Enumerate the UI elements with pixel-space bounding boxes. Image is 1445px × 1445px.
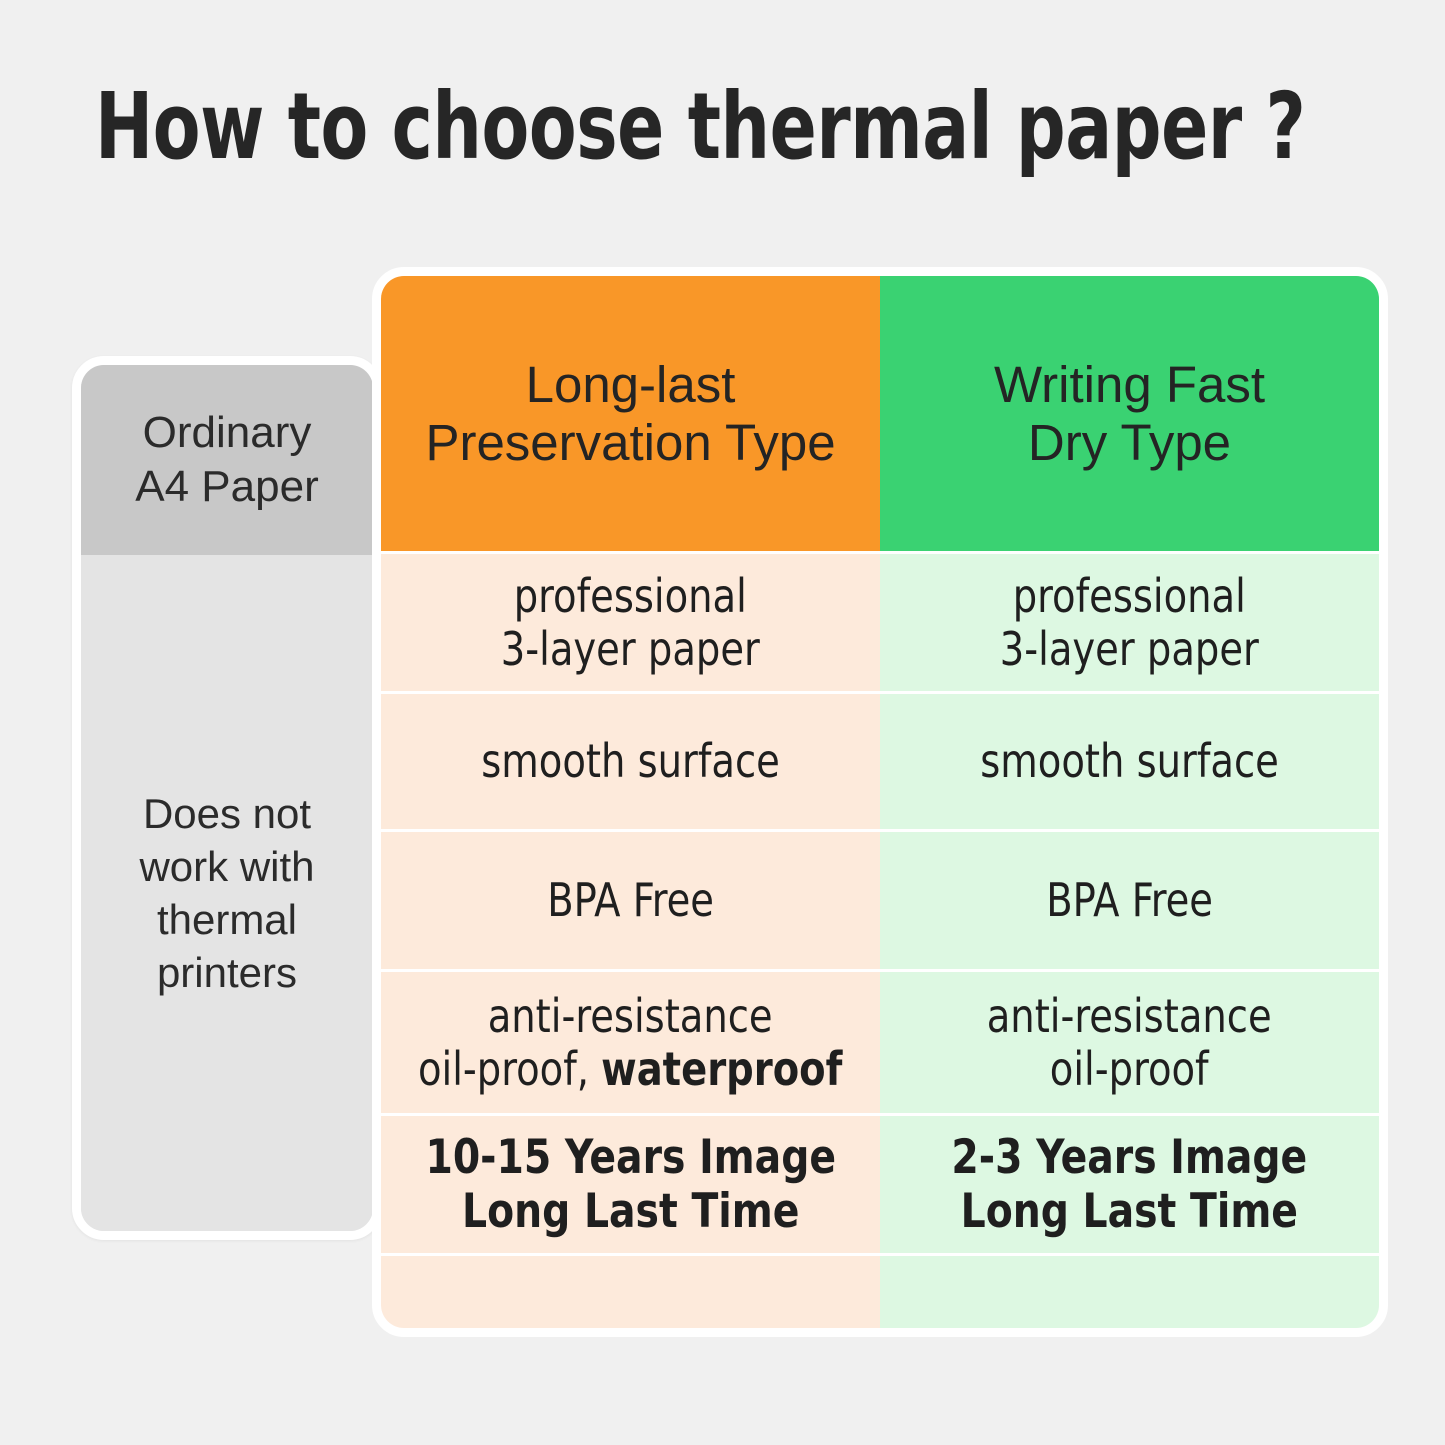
- table-row: anti-resistance oil-proof: [880, 969, 1379, 1113]
- table-row-spacer: [880, 1253, 1379, 1328]
- page-title: How to choose thermal paper ?: [95, 72, 1162, 182]
- cell-long-last-surface: smooth surface: [481, 735, 780, 788]
- column-header-label-ordinary: Ordinary A4 Paper: [135, 406, 318, 514]
- cell-long-last-resistance: anti-resistance oil-proof, waterproof: [418, 990, 842, 1096]
- cell-dry-resistance: anti-resistance oil-proof: [987, 990, 1272, 1096]
- table-row: 10-15 Years Image Long Last Time: [381, 1113, 880, 1253]
- table-row: BPA Free: [381, 829, 880, 969]
- column-card-ordinary-a4-paper: Ordinary A4 Paper Does not work with the…: [72, 356, 382, 1240]
- table-row: smooth surface: [880, 691, 1379, 829]
- cell-dry-material: professional 3-layer paper: [1000, 570, 1259, 676]
- column-header-long-last: Long-last Preservation Type: [381, 276, 880, 551]
- comparison-infographic: How to choose thermal paper ? Ordinary A…: [0, 0, 1445, 1445]
- cell-ordinary-note: Does not work with thermal printers: [139, 787, 314, 999]
- cell-dry-surface: smooth surface: [980, 735, 1279, 788]
- column-header-writing-fast-dry: Writing Fast Dry Type: [880, 276, 1379, 551]
- cell-long-last-bpa: BPA Free: [547, 874, 714, 927]
- table-row: BPA Free: [880, 829, 1379, 969]
- cell-long-last-material: professional 3-layer paper: [501, 570, 760, 676]
- cell-dry-lifespan: 2-3 Years Image Long Last Time: [952, 1131, 1308, 1239]
- table-row: anti-resistance oil-proof, waterproof: [381, 969, 880, 1113]
- column-header-label-writing-fast-dry: Writing Fast Dry Type: [994, 356, 1265, 472]
- table-row: professional 3-layer paper: [381, 551, 880, 691]
- column-body-ordinary-a4-paper: Does not work with thermal printers: [81, 555, 373, 1231]
- cell-dry-bpa: BPA Free: [1046, 874, 1213, 927]
- comparison-card: Long-last Preservation Type professional…: [372, 267, 1388, 1337]
- cell-long-last-resistance-emphasis: waterproof: [601, 1042, 842, 1096]
- table-row: professional 3-layer paper: [880, 551, 1379, 691]
- column-header-ordinary-a4-paper: Ordinary A4 Paper: [81, 365, 373, 555]
- cell-long-last-lifespan: 10-15 Years Image Long Last Time: [425, 1131, 836, 1239]
- column-header-label-long-last: Long-last Preservation Type: [425, 356, 835, 472]
- table-row-spacer: [381, 1253, 880, 1328]
- table-row: smooth surface: [381, 691, 880, 829]
- column-writing-fast-dry-type: Writing Fast Dry Type professional 3-lay…: [880, 276, 1379, 1328]
- column-long-last-preservation-type: Long-last Preservation Type professional…: [381, 276, 880, 1328]
- table-row: 2-3 Years Image Long Last Time: [880, 1113, 1379, 1253]
